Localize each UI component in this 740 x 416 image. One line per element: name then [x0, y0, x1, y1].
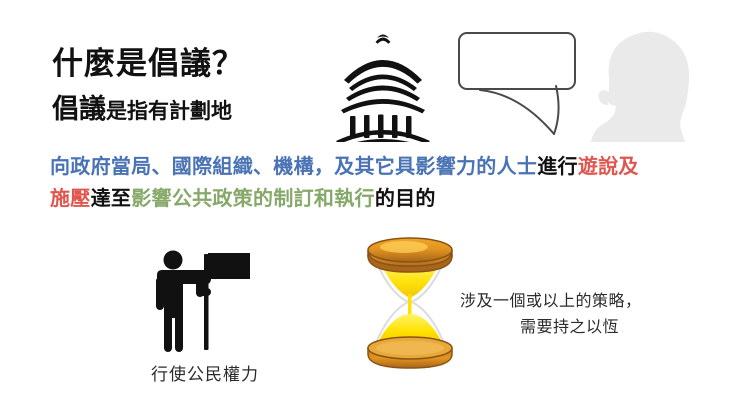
page-title: 什麼是倡議？ [52, 38, 244, 83]
definition-line-2: 施壓達至影響公共政策的制訂和執行的目的 [50, 182, 710, 214]
definition-line-1: 向政府當局、國際組織、機構，及其它具影響力的人士進行遊說及 [50, 150, 710, 182]
caption-strategy-line-2: 需要持之以恆 [452, 314, 687, 340]
speech-bubble-box [458, 32, 576, 90]
person-with-flag-icon [148, 248, 256, 352]
caption-civic-rights: 行使公民權力 [100, 360, 310, 385]
hourglass-icon [358, 232, 462, 372]
person-head-silhouette-icon [565, 24, 695, 142]
subtitle-rest: 是指有計劃地 [106, 98, 232, 123]
capitol-dome-icon [322, 22, 444, 142]
definition-segment-black-2: 達至 [91, 186, 132, 210]
definition-segment-black-1: 進行 [537, 154, 578, 178]
definition-segment-blue-1: 向政府當局、國際組織、機構，及其它具影響力的人士 [50, 154, 537, 178]
caption-strategy: 涉及一個或以上的策略， 需要持之以恆 [452, 288, 687, 340]
definition-paragraph: 向政府當局、國際組織、機構，及其它具影響力的人士進行遊說及 施壓達至影響公共政策… [50, 150, 710, 214]
definition-segment-red-1: 遊說及 [578, 154, 639, 178]
slide-canvas: 什麼是倡議？ 倡議是指有計劃地 向政府當局、國際組織、機構，及其它具影響力的人士… [0, 0, 740, 416]
speech-bubble-icon [458, 32, 576, 90]
definition-segment-green-1: 影響公共政策的制訂和執行 [131, 186, 375, 210]
definition-segment-black-3: 的目的 [375, 186, 436, 210]
definition-segment-red-2: 施壓 [50, 186, 91, 210]
subtitle: 倡議是指有計劃地 [52, 96, 232, 123]
subtitle-lead: 倡議 [52, 94, 106, 125]
caption-strategy-line-1: 涉及一個或以上的策略， [452, 288, 687, 314]
